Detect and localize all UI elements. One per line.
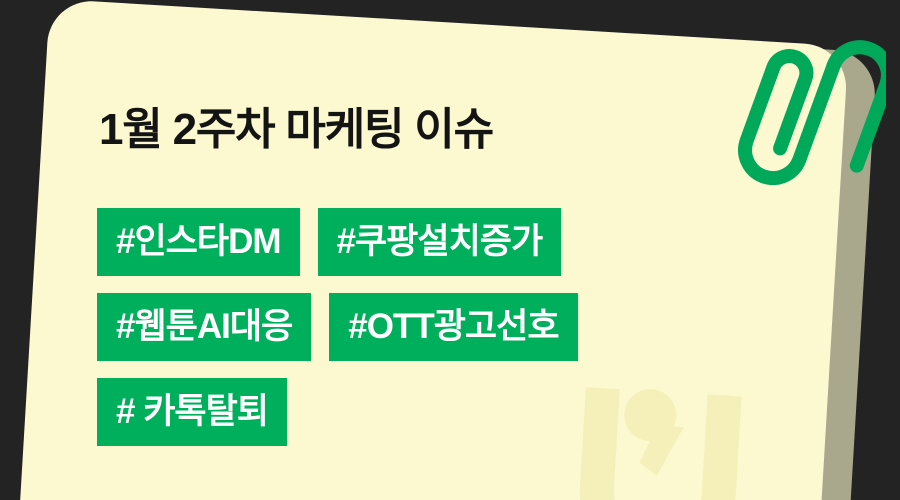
tag-row: # 카톡탈퇴 [97,378,578,446]
paperclip-icon [716,36,886,211]
tag-chip[interactable]: #쿠팡설치증가 [318,208,562,276]
tag-row: #인스타DM #쿠팡설치증가 [97,208,578,276]
card-content: 1월 2주차 마케팅 이슈 #인스타DM #쿠팡설치증가 #웹툰AI대응 #OT… [0,0,900,500]
tag-chip[interactable]: #웹툰AI대응 [97,293,311,361]
tag-chip[interactable]: #OTT광고선호 [329,293,577,361]
tag-chip[interactable]: # 카톡탈퇴 [97,378,287,446]
page-title: 1월 2주차 마케팅 이슈 [99,108,493,152]
tag-chip[interactable]: #인스타DM [97,208,300,276]
tag-list: #인스타DM #쿠팡설치증가 #웹툰AI대응 #OTT광고선호 # 카톡탈퇴 [97,208,578,446]
tag-row: #웹툰AI대응 #OTT광고선호 [97,293,578,361]
marketing-issue-card-graphic: 1월 2주차 마케팅 이슈 #인스타DM #쿠팡설치증가 #웹툰AI대응 #OT… [0,0,900,500]
